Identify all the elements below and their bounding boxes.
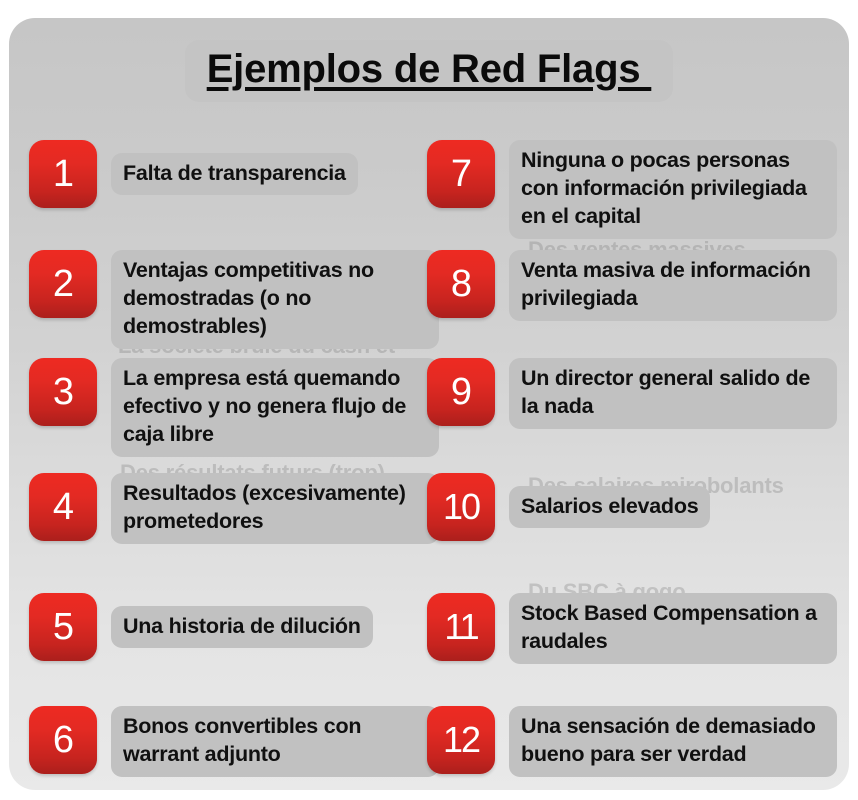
list-item: 10Salarios elevados	[427, 473, 710, 541]
item-label: Salarios elevados	[509, 486, 710, 529]
item-label: Stock Based Compensation a raudales	[509, 593, 837, 664]
item-label: Ninguna o pocas personas con información…	[509, 140, 837, 239]
item-label: Resultados (excesivamente) prometedores	[111, 473, 439, 544]
list-item: 4Resultados (excesivamente) prometedores	[29, 473, 439, 544]
title-container: Ejemplos de Red Flags	[9, 40, 849, 102]
item-number-badge: 1	[29, 140, 97, 208]
item-number-badge: 2	[29, 250, 97, 318]
item-number-badge: 11	[427, 593, 495, 661]
item-label: Una sensación de demasiado bueno para se…	[509, 706, 837, 777]
item-label: Ventajas competitivas no demostradas (o …	[111, 250, 439, 349]
item-number-badge: 6	[29, 706, 97, 774]
item-number-badge: 5	[29, 593, 97, 661]
item-label: Bonos convertibles con warrant adjunto	[111, 706, 439, 777]
list-item: 9Un director general salido de la nada	[427, 358, 837, 429]
list-item: 7Ninguna o pocas personas con informació…	[427, 140, 837, 239]
item-label: Venta masiva de información privilegiada	[509, 250, 837, 321]
list-item: 11Stock Based Compensation a raudales	[427, 593, 837, 664]
list-item: 8Venta masiva de información privilegiad…	[427, 250, 837, 321]
item-label: La empresa está quemando efectivo y no g…	[111, 358, 439, 457]
list-item: 6Bonos convertibles con warrant adjunto	[29, 706, 439, 777]
content-card: La société brûle du cash etne dégage pas…	[9, 18, 849, 790]
list-item: 12Una sensación de demasiado bueno para …	[427, 706, 837, 777]
page-title: Ejemplos de Red Flags	[207, 46, 652, 92]
item-number-badge: 9	[427, 358, 495, 426]
list-item: 5Una historia de dilución	[29, 593, 373, 661]
infographic-root: La société brûle du cash etne dégage pas…	[0, 0, 858, 800]
list-item: 3La empresa está quemando efectivo y no …	[29, 358, 439, 457]
item-number-badge: 12	[427, 706, 495, 774]
item-number-badge: 7	[427, 140, 495, 208]
list-item: 1Falta de transparencia	[29, 140, 358, 208]
item-number-badge: 3	[29, 358, 97, 426]
item-label: Un director general salido de la nada	[509, 358, 837, 429]
item-number-badge: 4	[29, 473, 97, 541]
item-number-badge: 10	[427, 473, 495, 541]
item-number-badge: 8	[427, 250, 495, 318]
item-label: Una historia de dilución	[111, 606, 373, 649]
title-chip: Ejemplos de Red Flags	[185, 40, 674, 102]
item-label: Falta de transparencia	[111, 153, 358, 196]
list-item: 2Ventajas competitivas no demostradas (o…	[29, 250, 439, 349]
